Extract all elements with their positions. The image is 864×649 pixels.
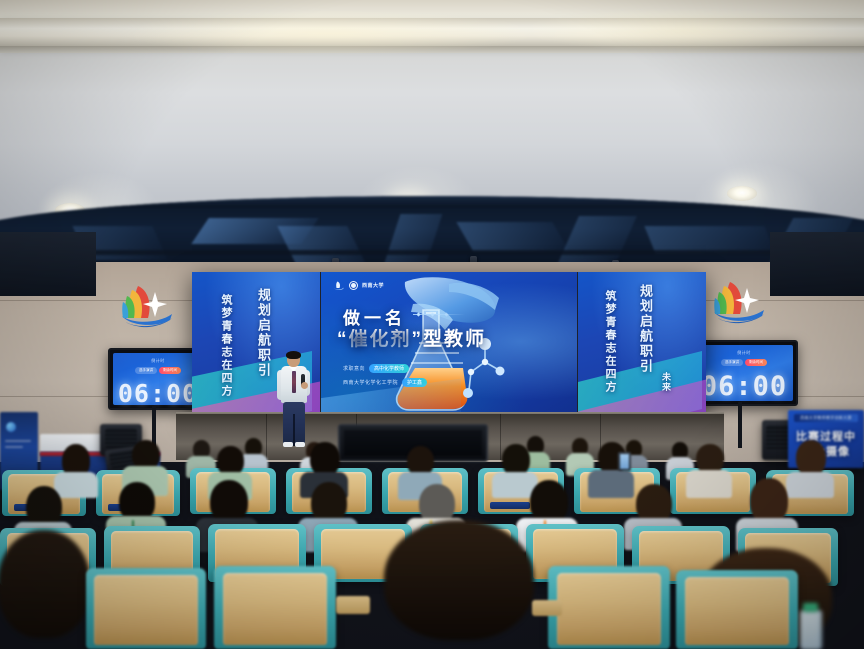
- person-hair: [310, 442, 340, 476]
- person-body: [686, 470, 732, 498]
- led-panel-right: 规划启航职引 筑梦青春志在四方 未来: [578, 272, 706, 417]
- rollup-line: [5, 446, 23, 448]
- timer-value-left: 06:00: [118, 381, 198, 406]
- presenter-tie: [292, 371, 296, 393]
- presenter-hand: [301, 382, 308, 389]
- timer-pill-right-label: 剩余时间: [159, 367, 181, 374]
- timer-screen-right: 倒计时 选手演讲 剩余时间 06:00: [695, 345, 793, 401]
- timer-value-right: 06:00: [701, 373, 787, 400]
- presenter: [276, 352, 312, 446]
- seat-pad: [223, 573, 328, 644]
- timer-screen-left: 倒计时 选手演讲 剩余时间 06:00: [113, 353, 203, 405]
- led-title-highlight: 催化剂: [349, 329, 412, 350]
- timer-header-right: 倒计时: [737, 350, 751, 356]
- quote-close: ”: [412, 329, 424, 350]
- water-bottle[interactable]: [800, 610, 822, 649]
- wall-dark-recess-left: [0, 232, 96, 296]
- sign-header-text: 西南大学教师教学创新大赛: [800, 415, 852, 421]
- timer-pills-left: 选手演讲 剩余时间: [135, 367, 181, 374]
- seat[interactable]: [676, 570, 798, 649]
- soffit-reflection: [456, 222, 569, 252]
- led-right-banner-sub: 筑梦青春志在四方: [602, 290, 618, 394]
- timer-pill-left-label: 选手演讲: [721, 359, 743, 366]
- seat-pad: [94, 575, 197, 645]
- audience-person: [686, 444, 732, 494]
- seat-pad: [557, 573, 662, 644]
- rollup-line: [5, 440, 31, 442]
- timer-monitor-right: 倒计时 选手演讲 剩余时间 06:00: [690, 340, 798, 406]
- presenter-leg-split: [293, 414, 295, 446]
- truss-rail: [0, 250, 864, 255]
- rainbow-sailboat-star-logo-left: [108, 276, 182, 334]
- seat[interactable]: [548, 566, 670, 649]
- person-hair: [796, 440, 826, 476]
- meta-label: 西南大学化学化工学院: [343, 379, 398, 386]
- led-title-line2: “催化剂”型教师: [337, 324, 486, 351]
- led-right-banner-main: 规划启航职引: [636, 284, 655, 374]
- rainbow-sailboat-star-logo-right: [700, 272, 774, 330]
- timer-pill-left-label: 选手演讲: [135, 367, 157, 374]
- smartphone[interactable]: [618, 452, 631, 471]
- led-left-banner-sub: 筑梦青春志在四方: [218, 294, 234, 398]
- timer-header-left: 倒计时: [151, 358, 165, 364]
- person-hair: [0, 530, 90, 638]
- seat-armrest: [532, 600, 562, 616]
- soffit-edge: [0, 196, 864, 208]
- led-left-banner-main: 规划启航职引: [254, 288, 273, 378]
- meta-chip: 护工鑫: [402, 378, 427, 387]
- led-panel-center: 西南大学: [321, 272, 577, 417]
- meta-label: 求职意向: [343, 365, 365, 372]
- audience-person: [54, 444, 98, 492]
- seat[interactable]: [214, 566, 336, 649]
- ceiling-cornice: [0, 18, 864, 48]
- sailboat-icon: [332, 280, 345, 291]
- bottle-cap: [803, 603, 818, 612]
- wall-dark-recess-right: [770, 232, 864, 296]
- led-right-banner-tail: 未来: [660, 372, 673, 392]
- seat-pad: [685, 577, 790, 645]
- seat-armrest: [336, 596, 370, 614]
- presenter-shoe-left: [283, 442, 293, 447]
- audience-person-foreground: [368, 520, 548, 649]
- timer-pills-right: 选手演讲 剩余时间: [721, 359, 767, 366]
- person-hair: [384, 520, 534, 640]
- monitor-stand-right: [738, 402, 742, 448]
- auditorium-scene: 倒计时 选手演讲 剩余时间 06:00 倒计时 选手演讲 剩余时间 06:00 …: [0, 0, 864, 649]
- timer-pill-right-label: 剩余时间: [745, 359, 767, 366]
- ceiling-cornice-lip: [0, 46, 864, 53]
- audience-person-foreground: [0, 530, 100, 649]
- presenter-hair: [286, 351, 301, 359]
- sign-header-bar: 西南大学教师教学创新大赛: [794, 414, 858, 422]
- led-video-wall: 规划启航职引 筑梦青春志在四方 未来 西南大学: [192, 272, 706, 417]
- seat[interactable]: [86, 568, 206, 649]
- led-meta-row-1: 西南大学化学化工学院 护工鑫: [343, 378, 427, 387]
- meta-chip: 高中化学教师: [369, 364, 409, 373]
- led-meta-row-0: 求职意向 高中化学教师: [343, 364, 409, 373]
- quote-open: “: [337, 329, 349, 350]
- rollup-logo-icon: [6, 422, 16, 432]
- led-title-tail: 型教师: [423, 329, 486, 350]
